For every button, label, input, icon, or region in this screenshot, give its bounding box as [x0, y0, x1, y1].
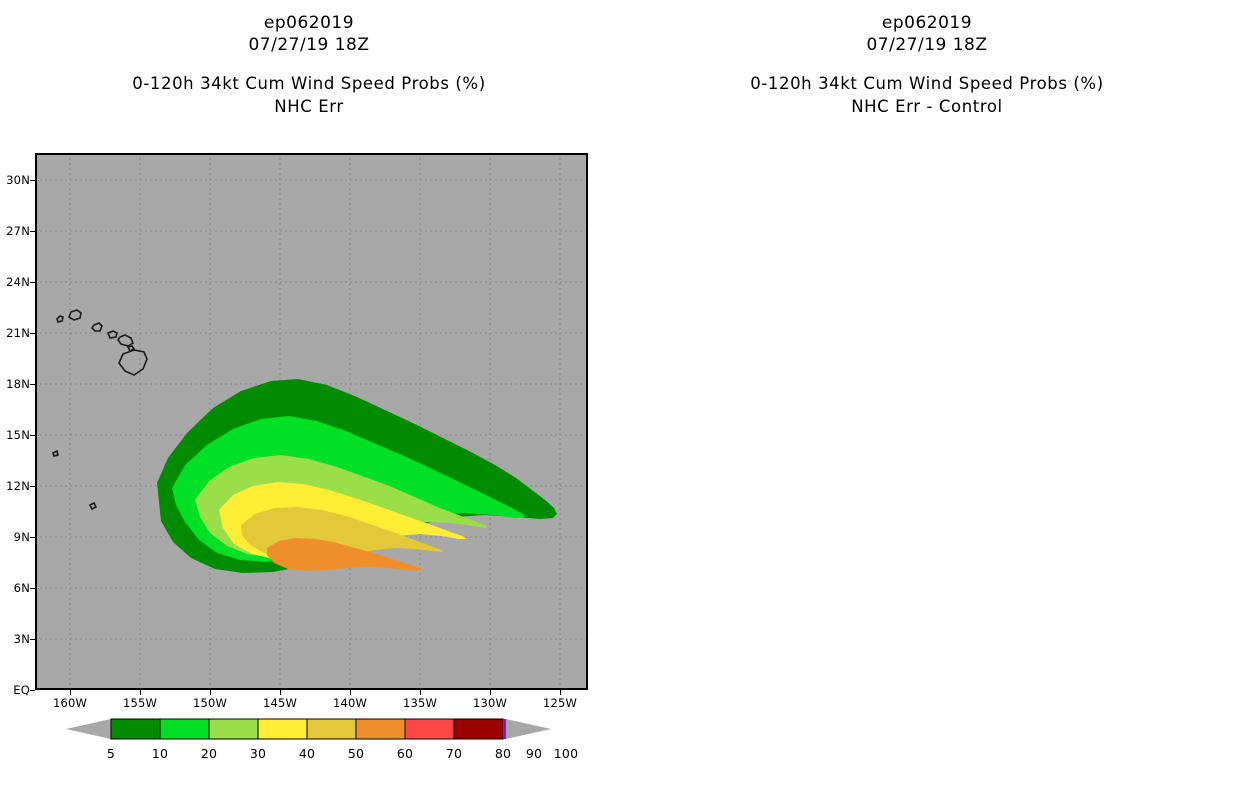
left-cb-label-1: 10: [152, 746, 168, 761]
left-cb-label-7: 70: [446, 746, 462, 761]
left-xlabel-4: 140W: [333, 696, 367, 710]
left-xlabel-0: 160W: [53, 696, 87, 710]
left-xlabel-5: 135W: [403, 696, 437, 710]
left-storm-id: ep062019: [0, 12, 618, 34]
left-cb-label-6: 60: [397, 746, 413, 761]
left-colorbar: 5 10 20 30 40 50 60 70 80 90 100: [66, 716, 551, 742]
left-ylabel-10: 30N: [6, 173, 30, 187]
left-plot-area: EQ 3N 6N 9N 12N 15N 18N 21N 24N 27N 30N …: [35, 153, 588, 690]
right-valid-date: 07/27/19 18Z: [618, 34, 1236, 56]
left-cb-label-3: 30: [250, 746, 266, 761]
left-xlabel-7: 125W: [543, 696, 577, 710]
right-panel-titles: ep062019 07/27/19 18Z 0-120h 34kt Cum Wi…: [618, 0, 1236, 118]
left-cb-label-8: 80: [495, 746, 511, 761]
left-colorbar-swatches: [66, 716, 551, 742]
left-ylabel-7: 21N: [6, 326, 30, 340]
left-ylabel-9: 27N: [6, 224, 30, 238]
left-xlabel-3: 145W: [263, 696, 297, 710]
figure-root: ep062019 07/27/19 18Z 0-120h 34kt Cum Wi…: [0, 0, 1236, 800]
left-sub-title: NHC Err: [0, 95, 618, 118]
right-sub-title: NHC Err - Control: [618, 95, 1236, 118]
left-ylabel-5: 15N: [6, 428, 30, 442]
left-cb-label-0: 5: [107, 746, 115, 761]
left-ylabel-1: 3N: [14, 632, 30, 646]
left-xlabel-1: 155W: [123, 696, 157, 710]
left-ylabel-4: 12N: [6, 479, 30, 493]
panel-nhc-err-minus-control: ep062019 07/27/19 18Z 0-120h 34kt Cum Wi…: [618, 0, 1236, 800]
left-ylabel-8: 24N: [6, 275, 30, 289]
left-colorbar-under-arrow: [66, 719, 111, 739]
left-valid-date: 07/27/19 18Z: [0, 34, 618, 56]
panel-nhc-err: ep062019 07/27/19 18Z 0-120h 34kt Cum Wi…: [0, 0, 618, 800]
left-ylabel-3: 9N: [14, 530, 30, 544]
left-ylabel-0: EQ: [13, 683, 30, 697]
left-cb-label-4: 40: [299, 746, 315, 761]
left-xlabel-2: 150W: [193, 696, 227, 710]
left-cb-label-5: 50: [348, 746, 364, 761]
left-xlabel-6: 130W: [473, 696, 507, 710]
left-panel-titles: ep062019 07/27/19 18Z 0-120h 34kt Cum Wi…: [0, 0, 618, 118]
left-colorbar-over-arrow: [506, 719, 551, 739]
left-cb-label-9: 90: [526, 746, 542, 761]
right-storm-id: ep062019: [618, 12, 1236, 34]
left-main-title: 0-120h 34kt Cum Wind Speed Probs (%): [0, 72, 618, 95]
left-plot-frame: [35, 153, 588, 690]
left-cb-label-2: 20: [201, 746, 217, 761]
left-ylabel-2: 6N: [14, 581, 30, 595]
right-main-title: 0-120h 34kt Cum Wind Speed Probs (%): [618, 72, 1236, 95]
left-cb-label-10: 100: [554, 746, 578, 761]
left-ylabel-6: 18N: [6, 377, 30, 391]
